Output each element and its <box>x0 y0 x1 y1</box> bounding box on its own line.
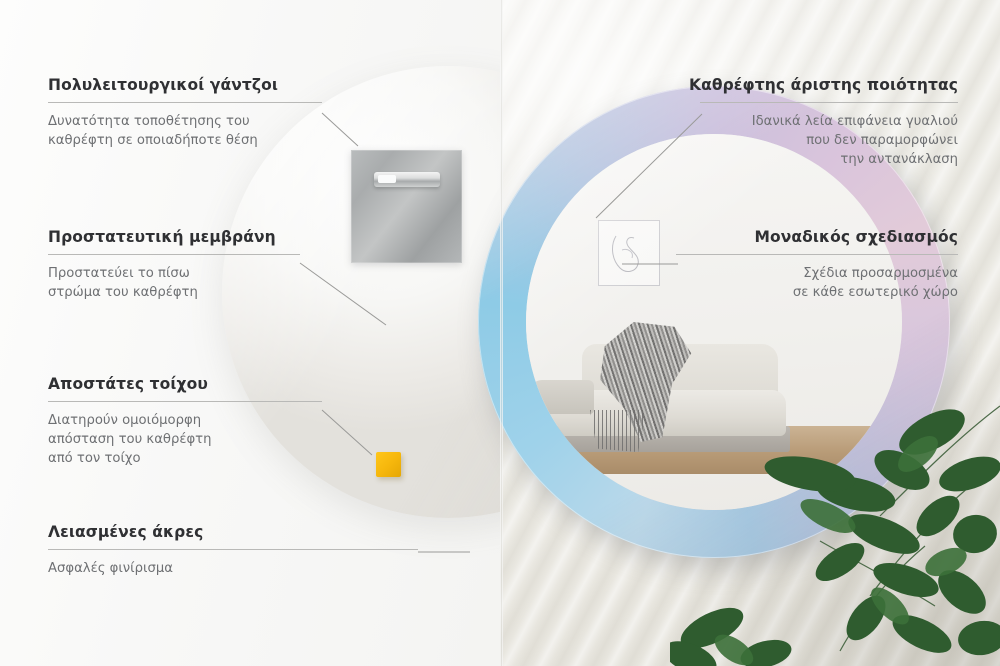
callout-title: Πολυλειτουργικοί γάντζοι <box>48 76 348 94</box>
callout-rule <box>700 102 958 103</box>
callout-body: Διατηρούν ομοιόμορφη απόσταση του καθρέφ… <box>48 411 348 468</box>
infographic-canvas: Πολυλειτουργικοί γάντζοι Δυνατότητα τοπο… <box>0 0 1000 666</box>
callout-protective-membrane: Προστατευτική μεμβράνη Προστατεύει το πί… <box>48 228 348 302</box>
callout-rule <box>676 254 958 255</box>
callout-title: Αποστάτες τοίχου <box>48 375 348 393</box>
panel-divider <box>500 0 503 666</box>
callout-multifunctional-hooks: Πολυλειτουργικοί γάντζοι Δυνατότητα τοπο… <box>48 76 348 150</box>
callout-smoothed-edges: Λειασμένες άκρες Ασφαλές φινίρισμα <box>48 523 428 578</box>
callout-body: Ασφαλές φινίρισμα <box>48 559 428 578</box>
callout-body: Σχέδια προσαρμοσμένα σε κάθε εσωτερικό χ… <box>628 264 958 302</box>
callout-body: Δυνατότητα τοποθέτησης του καθρέφτη σε ο… <box>48 112 348 150</box>
callout-wall-spacers: Αποστάτες τοίχου Διατηρούν ομοιόμορφη απ… <box>48 375 348 468</box>
callout-rule <box>48 254 300 255</box>
callout-body: Ιδανικά λεία επιφάνεια γυαλιού που δεν π… <box>628 112 958 169</box>
callout-title: Μοναδικός σχεδιασμός <box>628 228 958 246</box>
callout-rule <box>48 401 322 402</box>
callout-rule <box>48 102 322 103</box>
callout-title: Προστατευτική μεμβράνη <box>48 228 348 246</box>
callout-top-quality-mirror: Καθρέφτης άριστης ποιότητας Ιδανικά λεία… <box>628 76 958 169</box>
callout-unique-design: Μοναδικός σχεδιασμός Σχέδια προσαρμοσμέν… <box>628 228 958 302</box>
callout-body: Προστατεύει το πίσω στρώμα του καθρέφτη <box>48 264 348 302</box>
callout-rule <box>48 549 418 550</box>
callout-title: Λειασμένες άκρες <box>48 523 428 541</box>
callout-title: Καθρέφτης άριστης ποιότητας <box>628 76 958 94</box>
